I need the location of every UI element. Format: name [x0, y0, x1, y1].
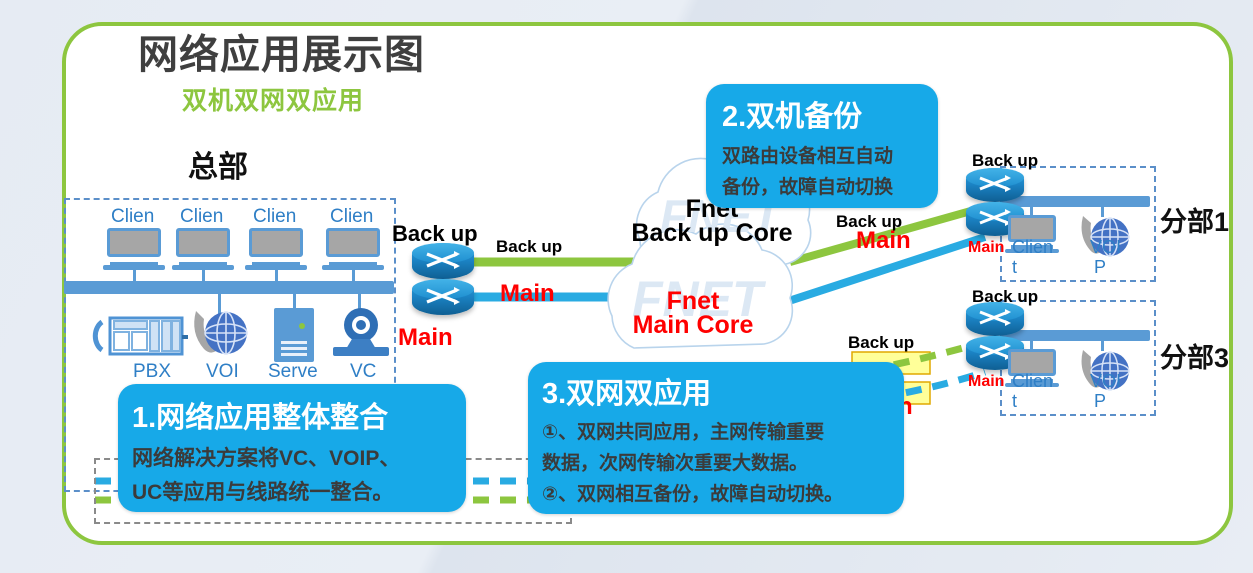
callout-2[interactable]: 2.双机备份 双路由设备相互自动 备份，故障自动切换: [706, 84, 938, 208]
callout-3-heading: 3.双网双应用: [542, 370, 904, 412]
branch3-router-backup: [966, 302, 1024, 336]
server-icon: [274, 308, 314, 362]
router-arrows-icon: [977, 307, 1013, 328]
pbx-label: PBX: [133, 362, 171, 382]
branch1-client-label-line2: t: [1012, 258, 1017, 277]
router-arrows-icon: [424, 285, 462, 307]
branch1-client-label-line1: Clien: [1012, 238, 1053, 257]
client-drop-line: [352, 270, 355, 284]
network-diagram-canvas: FNET FNET 网络应用展示图 双机双网双应用 总部 Clien t Cli…: [0, 0, 1253, 573]
vc-label: VC: [350, 362, 376, 382]
hq-router-main-label: Main: [398, 325, 453, 350]
hq-router-backup-label: Back up: [392, 222, 478, 245]
branch1-router-backup: [966, 168, 1024, 202]
voip-globe-icon: [186, 305, 250, 361]
branch3-main-label: Main: [968, 374, 1004, 391]
link-label-hq-core-main: Main: [500, 281, 555, 306]
branch1-voip-label-line1: VOI: [1090, 238, 1121, 257]
voi-label: VOI: [206, 362, 239, 382]
router-arrows-icon: [977, 173, 1013, 194]
callout-3-body-line-2: 数据，次网传输次重要大数据。: [542, 448, 904, 475]
pbx-icon: [92, 310, 188, 362]
client-label-line1: Clien: [253, 207, 296, 227]
headquarters-bus: [64, 281, 394, 294]
video-camera-icon: [330, 305, 392, 361]
callout-3-body-line-3: ②、双网相互备份，故障自动切换。: [542, 479, 904, 506]
branch1-main-label: Main: [968, 240, 1004, 257]
branch3-client-label-line2: t: [1012, 392, 1017, 411]
hq-router-backup: [412, 243, 474, 279]
link-label-branch3-backup: Back up: [848, 334, 914, 352]
laptop-icon: [176, 228, 230, 270]
branch1-voip-label-line2: P: [1094, 258, 1106, 277]
page-subtitle: 双机双网双应用: [182, 88, 364, 114]
client-label-line1: Clien: [330, 207, 373, 227]
link-label-branch1-main: Main: [856, 228, 911, 253]
server-label: Serve: [268, 362, 318, 382]
client-drop-line: [133, 270, 136, 284]
client-drop-line: [202, 270, 205, 284]
branch1-title: 分部1: [1160, 208, 1229, 236]
callout-1-body-line-2: UC等应用与线路统一整合。: [132, 476, 466, 506]
callout-3-body-line-1: ①、双网共同应用，主网传输重要: [542, 417, 904, 444]
callout-1-body-line-1: 网络解决方案将VC、VOIP、: [132, 442, 466, 472]
laptop-icon: [249, 228, 303, 270]
client-drop-line: [275, 270, 278, 284]
branch3-title: 分部3: [1160, 344, 1229, 372]
client-label-line1: Clien: [180, 207, 223, 227]
page-title: 网络应用展示图: [138, 34, 425, 76]
callout-2-body-line-2: 备份，故障自动切换: [722, 172, 938, 199]
laptop-icon: [107, 228, 161, 270]
cloud-backup-label-line2: Back up Core: [602, 220, 822, 246]
branch3-voip-label-line1: VOI: [1090, 372, 1121, 391]
client-label-line1: Clien: [111, 207, 154, 227]
callout-3[interactable]: 3.双网双应用 ①、双网共同应用，主网传输重要 数据，次网传输次重要大数据。 ②…: [528, 362, 904, 514]
link-label-hq-core-backup: Back up: [496, 238, 562, 256]
headquarters-title: 总部: [188, 152, 248, 184]
callout-2-heading: 2.双机备份: [722, 93, 938, 135]
branch3-voip-label-line2: P: [1094, 392, 1106, 411]
callout-1[interactable]: 1.网络应用整体整合 网络解决方案将VC、VOIP、 UC等应用与线路统一整合。: [118, 384, 466, 512]
callout-2-body-line-1: 双路由设备相互自动: [722, 141, 938, 168]
router-arrows-icon: [424, 249, 462, 271]
branch3-client-label-line1: Clien: [1012, 372, 1053, 391]
callout-1-heading: 1.网络应用整体整合: [132, 394, 466, 436]
cloud-main-label-line2: Main Core: [578, 312, 808, 338]
laptop-icon: [326, 228, 380, 270]
hq-router-main: [412, 279, 474, 315]
